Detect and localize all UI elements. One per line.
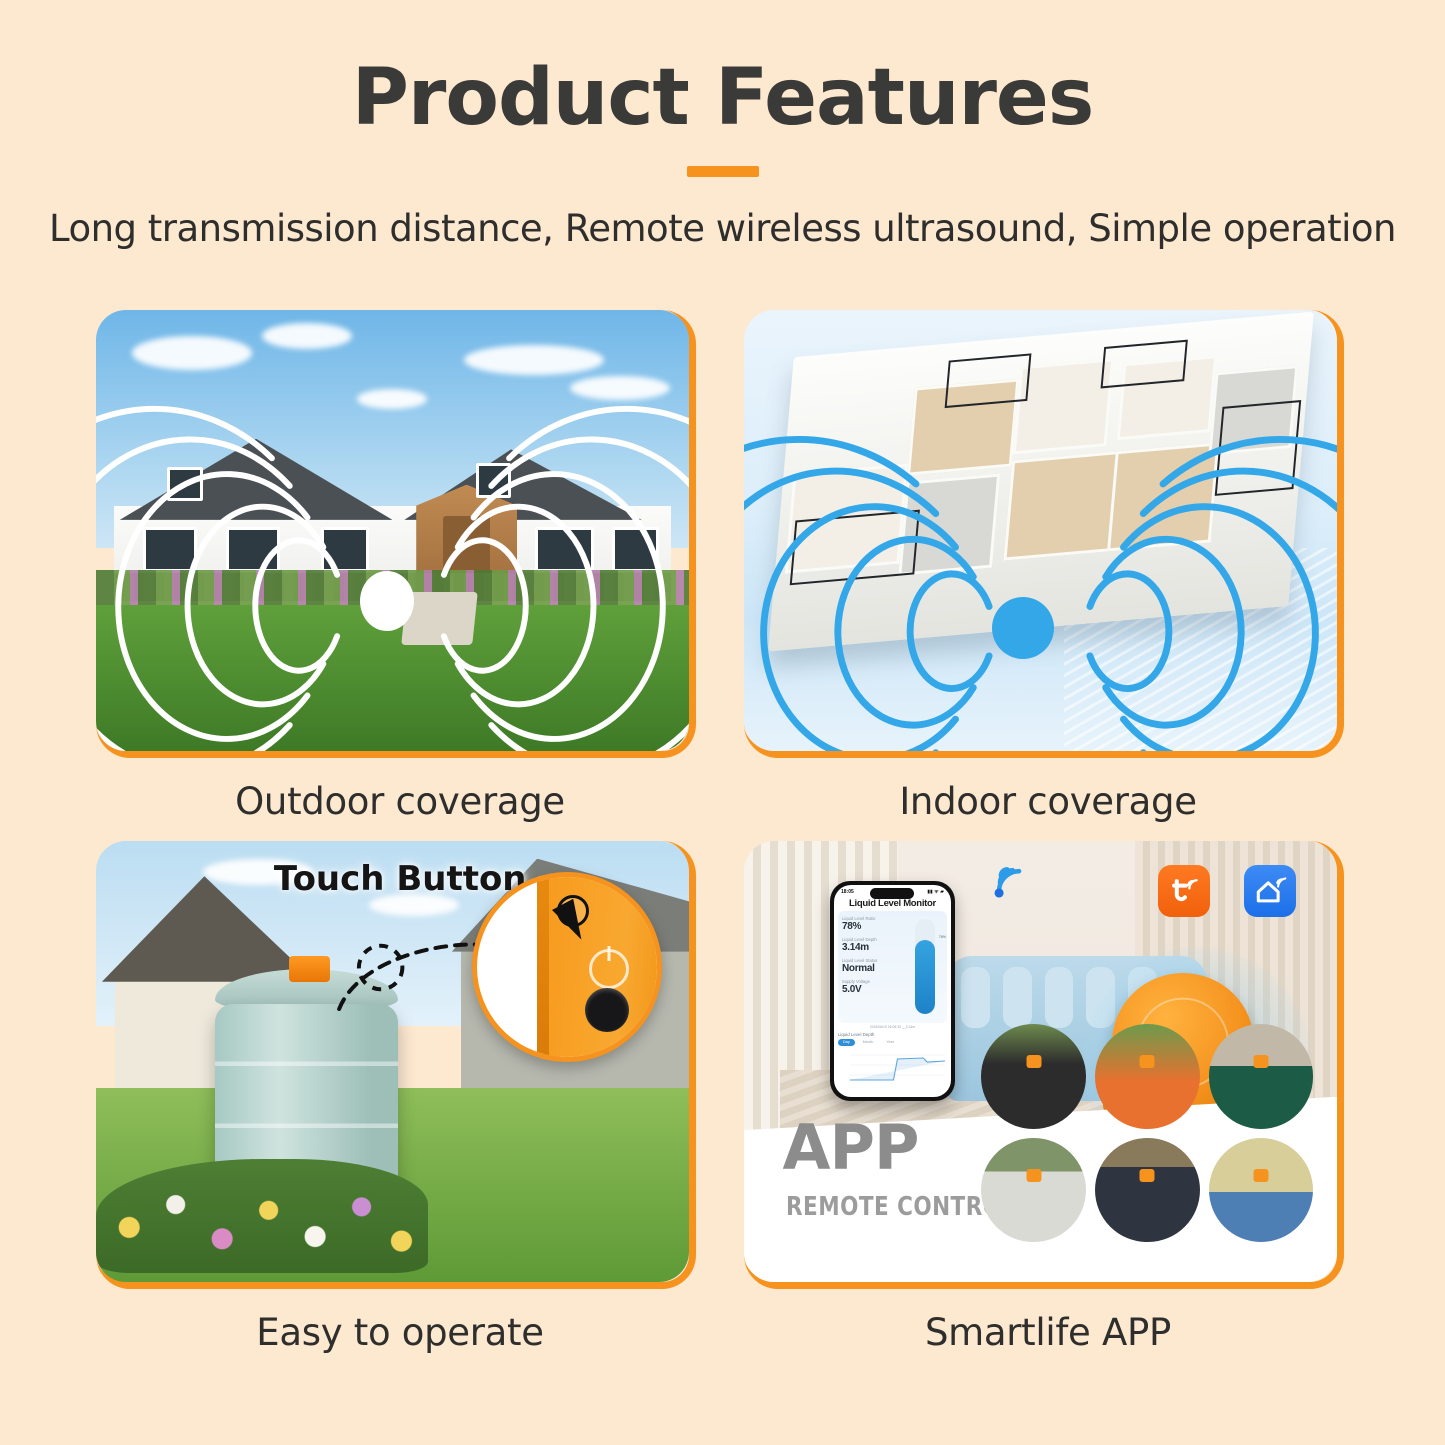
smart-home-icon xyxy=(1252,873,1288,909)
tuya-t-icon xyxy=(1166,873,1202,909)
power-icon xyxy=(589,949,629,989)
feature-card-indoor[interactable] xyxy=(744,310,1344,758)
smartphone[interactable]: 18:05 ▮▮ ᯤ ▰ Liquid Level Monitor Liquid… xyxy=(830,881,955,1101)
tuya-logo[interactable] xyxy=(1158,865,1210,917)
smartlife-app-image: 18:05 ▮▮ ᯤ ▰ Liquid Level Monitor Liquid… xyxy=(744,841,1337,1282)
feature-grid: Outdoor coverage xyxy=(96,310,1351,1354)
indoor-coverage-image xyxy=(744,310,1337,751)
status-icons: ▮▮ ᯤ ▰ xyxy=(927,889,944,895)
status-time: 18:05 xyxy=(841,889,854,895)
level-gauge-percent: 78% xyxy=(939,935,946,939)
sensor-pin-icon xyxy=(1253,1169,1268,1182)
feature-card-outdoor[interactable] xyxy=(96,310,696,758)
outdoor-coverage-image xyxy=(96,310,689,751)
sensor-pin-icon xyxy=(1026,1055,1041,1068)
caption-app: Smartlife APP xyxy=(744,1311,1352,1354)
smartlife-logo[interactable] xyxy=(1244,865,1296,917)
thumb-black-tank[interactable] xyxy=(981,1024,1086,1129)
sensor-dot xyxy=(360,571,414,631)
feature-cell-indoor: Indoor coverage xyxy=(744,310,1352,823)
phone-notch xyxy=(870,888,914,899)
caption-operate: Easy to operate xyxy=(96,1311,704,1354)
feature-cell-operate: Touch Button Easy to operate xyxy=(96,841,704,1354)
thumb-concrete-tank[interactable] xyxy=(981,1138,1086,1243)
signal-waves-icon xyxy=(744,310,1337,751)
thumb-white-barrel[interactable] xyxy=(1095,1024,1200,1129)
chart-range-tabs[interactable]: Day Month Year xyxy=(838,1039,947,1046)
page-header: Product Features Long transmission dista… xyxy=(0,0,1445,250)
cushion xyxy=(1003,967,1032,1028)
easy-to-operate-image: Touch Button xyxy=(96,841,689,1282)
title-accent-bar xyxy=(687,166,759,177)
metrics-panel: Liquid Level Ratio 78% Liquid Level Dept… xyxy=(838,911,947,1023)
magnifier-callout xyxy=(472,872,662,1062)
application-thumbnails xyxy=(981,1024,1313,1242)
cushion xyxy=(961,967,990,1028)
feature-card-operate[interactable]: Touch Button xyxy=(96,841,696,1289)
touch-button-annotation: Touch Button xyxy=(274,859,527,899)
chart-title: Liquid Level Depth xyxy=(838,1032,947,1037)
sensor-pin-icon xyxy=(1140,1055,1155,1068)
feature-card-app[interactable]: 18:05 ▮▮ ᯤ ▰ Liquid Level Monitor Liquid… xyxy=(744,841,1344,1289)
app-headline: APP xyxy=(783,1120,919,1176)
caption-indoor: Indoor coverage xyxy=(744,780,1352,823)
cushion xyxy=(1045,967,1074,1028)
page-title: Product Features xyxy=(0,58,1445,140)
level-gauge-fill xyxy=(915,940,935,1014)
tab-month[interactable]: Month xyxy=(858,1039,879,1046)
wifi-icon xyxy=(987,863,1033,903)
feature-cell-app: 18:05 ▮▮ ᯤ ▰ Liquid Level Monitor Liquid… xyxy=(744,841,1352,1354)
depth-chart-card: Liquid Level Depth Day Month Year xyxy=(838,1032,947,1085)
thumb-corrugated-pipe[interactable] xyxy=(1095,1138,1200,1243)
reading-timestamp: 2024/06/19 16:09:33 __3.14m xyxy=(834,1025,951,1029)
sensor-pin-icon xyxy=(1026,1169,1041,1182)
signal-waves-icon xyxy=(96,310,689,751)
sensor-pin-icon xyxy=(1140,1169,1155,1182)
tab-day[interactable]: Day xyxy=(838,1039,855,1046)
thumb-green-tank[interactable] xyxy=(1209,1024,1314,1129)
level-gauge xyxy=(915,919,935,1014)
sensor-pin-icon xyxy=(1253,1055,1268,1068)
tab-year[interactable]: Year xyxy=(881,1039,899,1046)
caption-outdoor: Outdoor coverage xyxy=(96,780,704,823)
chart-svg xyxy=(838,1049,947,1085)
feature-cell-outdoor: Outdoor coverage xyxy=(96,310,704,823)
sensor-dot xyxy=(992,597,1054,659)
thumb-blue-tank[interactable] xyxy=(1209,1138,1314,1243)
page-subtitle: Long transmission distance, Remote wirel… xyxy=(0,207,1445,250)
app-screen-title: Liquid Level Monitor xyxy=(834,898,951,909)
depth-line-chart xyxy=(838,1049,947,1085)
phone-screen[interactable]: 18:05 ▮▮ ᯤ ▰ Liquid Level Monitor Liquid… xyxy=(834,885,951,1097)
